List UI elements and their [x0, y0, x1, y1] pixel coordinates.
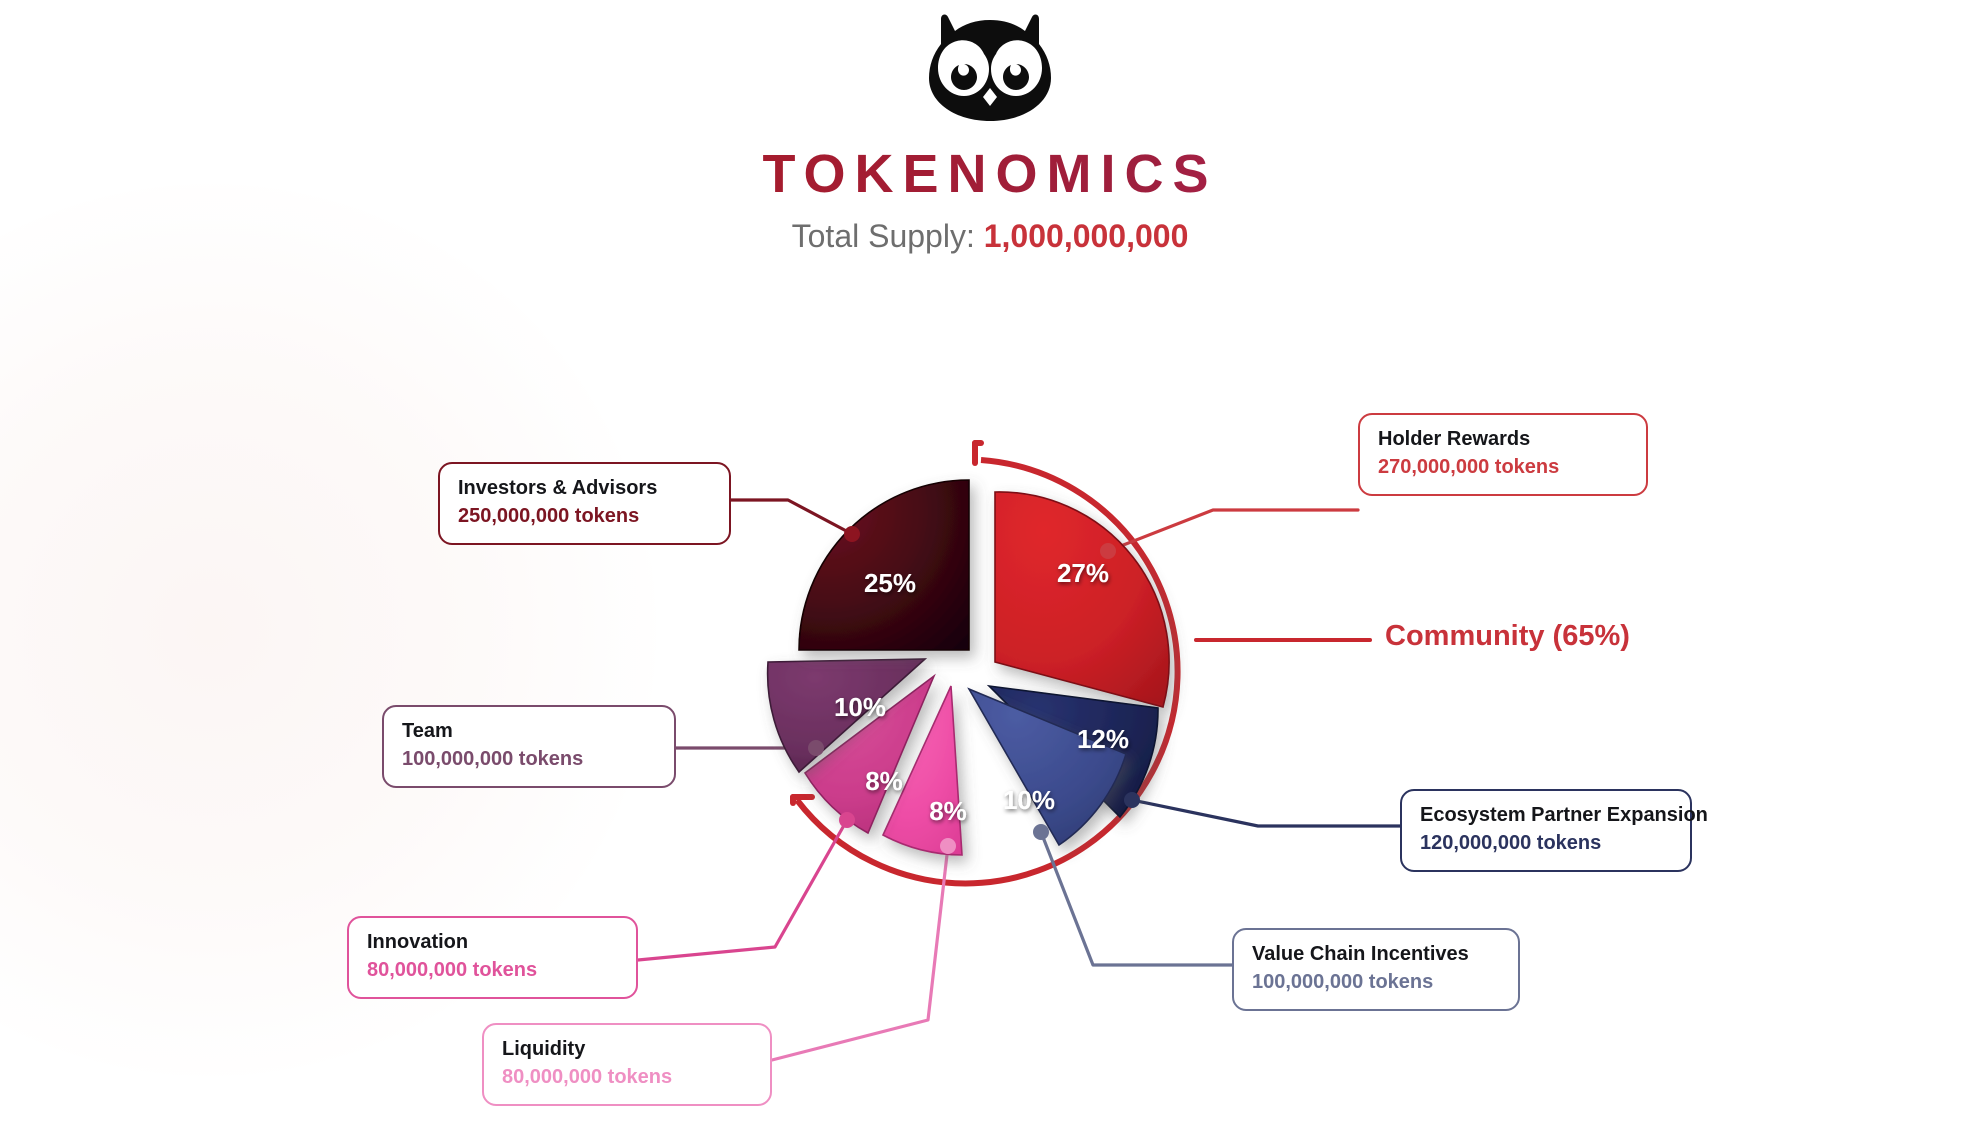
callout-liquidity-name: Liquidity: [502, 1036, 752, 1062]
tokenomics-chart: 27% 12% 10% 8% 8% 10% 25%: [0, 0, 1980, 1134]
pct-investors: 25%: [864, 568, 916, 598]
callout-holder-rewards-value: 270,000,000 tokens: [1378, 454, 1628, 481]
pct-liquidity: 8%: [929, 796, 967, 826]
callout-innovation-name: Innovation: [367, 929, 618, 955]
dot-holder-rewards: [1100, 543, 1116, 559]
callout-investors-advisors[interactable]: Investors & Advisors 250,000,000 tokens: [438, 462, 731, 545]
pie-slice-investors[interactable]: [799, 480, 969, 650]
pie-slices: [768, 480, 1169, 855]
callout-liquidity[interactable]: Liquidity 80,000,000 tokens: [482, 1023, 772, 1106]
pct-holder-rewards: 27%: [1057, 558, 1109, 588]
callout-value-chain-incentives-value: 100,000,000 tokens: [1252, 969, 1500, 996]
dot-liquidity: [940, 838, 956, 854]
callout-team-name: Team: [402, 718, 656, 744]
callout-liquidity-value: 80,000,000 tokens: [502, 1064, 752, 1091]
leader-ecosystem: [1132, 800, 1400, 826]
callout-investors-advisors-value: 250,000,000 tokens: [458, 503, 711, 530]
callout-ecosystem-partner-expansion[interactable]: Ecosystem Partner Expansion 120,000,000 …: [1400, 789, 1692, 872]
callout-value-chain-incentives[interactable]: Value Chain Incentives 100,000,000 token…: [1232, 928, 1520, 1011]
callout-ecosystem-partner-expansion-value: 120,000,000 tokens: [1420, 830, 1672, 857]
dot-team: [808, 740, 824, 756]
leader-holder-rewards: [1108, 510, 1358, 551]
pct-value-chain: 10%: [1003, 785, 1055, 815]
dot-innovation: [839, 812, 855, 828]
dot-investors: [844, 526, 860, 542]
leader-value-chain: [1041, 832, 1232, 965]
callout-team[interactable]: Team 100,000,000 tokens: [382, 705, 676, 788]
pie-slice-holder-rewards[interactable]: [995, 492, 1169, 707]
callout-investors-advisors-name: Investors & Advisors: [458, 475, 711, 501]
callout-team-value: 100,000,000 tokens: [402, 746, 656, 773]
callout-innovation[interactable]: Innovation 80,000,000 tokens: [347, 916, 638, 999]
pct-innovation: 8%: [865, 766, 903, 796]
dot-ecosystem: [1124, 792, 1140, 808]
pct-ecosystem: 12%: [1077, 724, 1129, 754]
pct-team: 10%: [834, 692, 886, 722]
community-bracket-label: Community (65%): [1385, 620, 1630, 653]
callout-value-chain-incentives-name: Value Chain Incentives: [1252, 941, 1500, 967]
callout-innovation-value: 80,000,000 tokens: [367, 957, 618, 984]
dot-value-chain: [1033, 824, 1049, 840]
callout-ecosystem-partner-expansion-name: Ecosystem Partner Expansion: [1420, 802, 1672, 828]
callout-holder-rewards-name: Holder Rewards: [1378, 426, 1628, 452]
leader-investors: [731, 500, 852, 534]
callout-holder-rewards[interactable]: Holder Rewards 270,000,000 tokens: [1358, 413, 1648, 496]
leader-innovation: [638, 820, 847, 960]
